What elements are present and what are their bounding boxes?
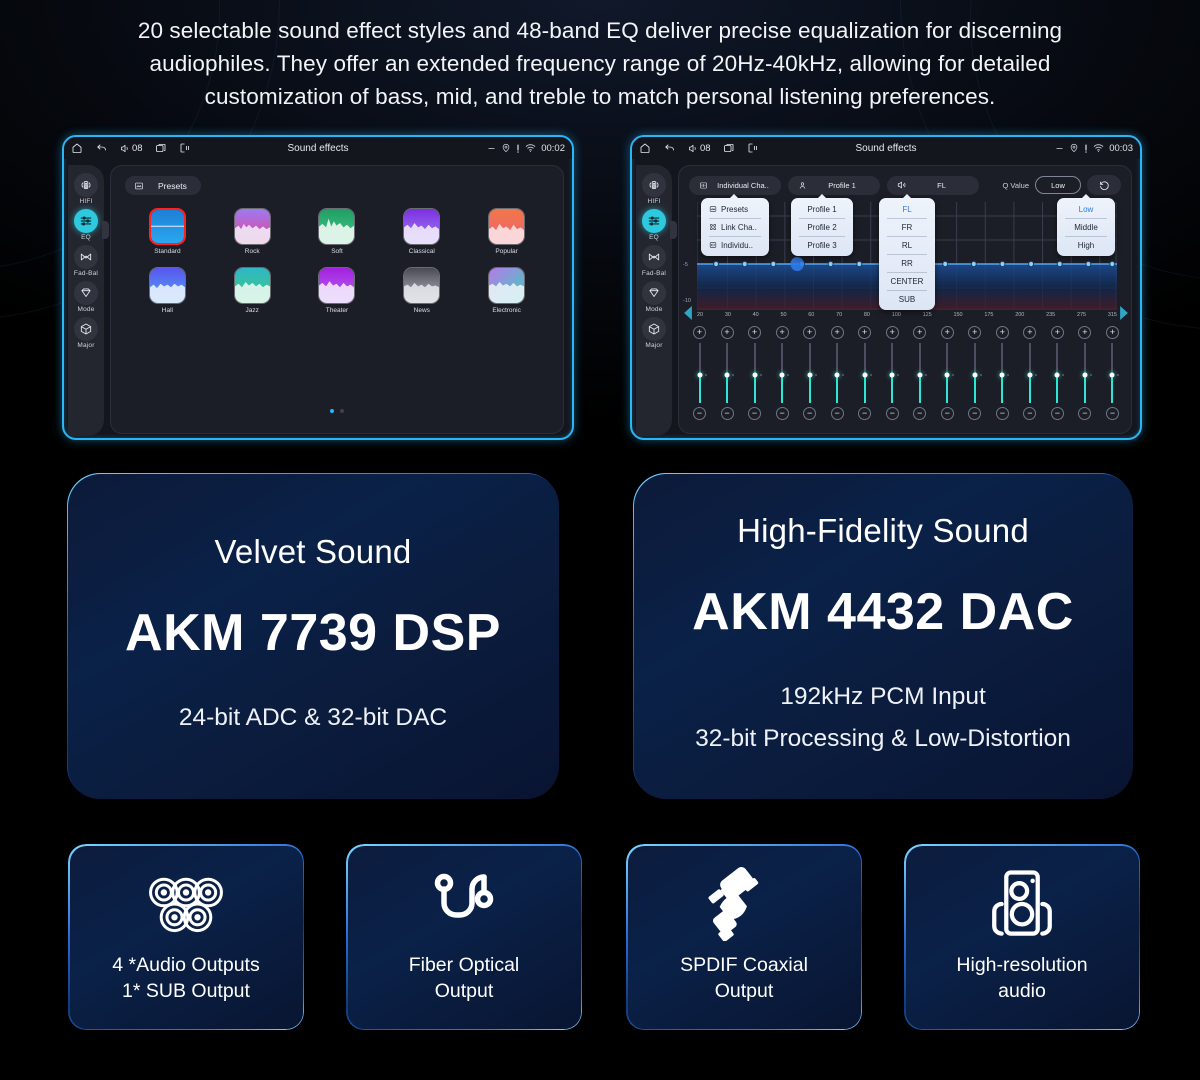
- preset-thumbnail: [488, 267, 525, 304]
- band-slider-knob[interactable]: [917, 373, 922, 378]
- band-decrease-button[interactable]: −: [693, 407, 706, 420]
- preset-grid: Standard Rock Soft: [125, 208, 549, 314]
- device-screen-eq: 08 Sound effects 00:03: [630, 135, 1142, 440]
- band-slider-track[interactable]: [946, 343, 948, 403]
- dropdown-item[interactable]: High: [1057, 236, 1115, 254]
- preset-thumbnail: [234, 208, 271, 245]
- volume-indicator[interactable]: 08: [688, 143, 711, 154]
- band-tick: [1117, 374, 1119, 376]
- preset-item[interactable]: Rock: [210, 208, 295, 255]
- sidebar-label: Mode: [645, 306, 662, 313]
- band-slider-track[interactable]: [974, 343, 976, 403]
- band-increase-button[interactable]: +: [721, 326, 734, 339]
- band-slider-track[interactable]: [919, 343, 921, 403]
- band-tick: [1062, 374, 1064, 376]
- band-slider-track[interactable]: [699, 343, 701, 403]
- dropdown-item-label: Presets: [721, 205, 748, 214]
- band-slider-track[interactable]: [726, 343, 728, 403]
- speaker-waves-icon: [642, 173, 666, 197]
- band-slider-fill: [726, 375, 728, 403]
- band-slider-knob[interactable]: [862, 373, 867, 378]
- link-icon: [709, 223, 717, 231]
- dropdown-item[interactable]: Individu..: [701, 236, 769, 254]
- back-icon[interactable]: [663, 142, 676, 154]
- home-icon[interactable]: [71, 142, 83, 154]
- speaker-icon: [897, 180, 907, 190]
- sidebar-label: Major: [645, 342, 662, 349]
- reset-history-icon[interactable]: [1087, 175, 1121, 195]
- eq-band: +−: [1106, 326, 1119, 420]
- wifi-icon: [525, 143, 536, 153]
- preset-item[interactable]: Soft: [295, 208, 380, 255]
- band-increase-button[interactable]: +: [858, 326, 871, 339]
- dropdown-item[interactable]: RL: [879, 236, 935, 254]
- presets-panel: Presets Standard Rock: [110, 165, 564, 434]
- band-slider-knob[interactable]: [1082, 373, 1087, 378]
- band-increase-button[interactable]: +: [1106, 326, 1119, 339]
- band-increase-button[interactable]: +: [776, 326, 789, 339]
- band-decrease-button[interactable]: −: [941, 407, 954, 420]
- eq-toolbar: Individual Cha.. Profile 1 FL Q Value Lo…: [689, 175, 1121, 195]
- band-tick: [815, 374, 817, 376]
- preset-item[interactable]: Classical: [379, 208, 464, 255]
- band-slider-fill: [1029, 375, 1031, 403]
- y-tick-label: -10: [683, 298, 691, 304]
- band-slider-track[interactable]: [1084, 343, 1086, 403]
- feature-card-dsp: Velvet Sound AKM 7739 DSP 24-bit ADC & 3…: [66, 472, 560, 800]
- feature-card-title: AKM 4432 DAC: [692, 582, 1074, 642]
- band-slider-track[interactable]: [836, 343, 838, 403]
- band-slider-knob[interactable]: [1055, 373, 1060, 378]
- band-decrease-button[interactable]: −: [886, 407, 899, 420]
- mode-selector-label: Individual Cha..: [715, 181, 771, 190]
- split-screen-icon[interactable]: [747, 142, 759, 154]
- chevron-left-icon[interactable]: [683, 306, 693, 325]
- dropdown-profile[interactable]: Profile 1 Profile 2 Profile 3: [791, 198, 853, 256]
- feature-card-desc-line: 32-bit Processing & Low-Distortion: [695, 718, 1071, 760]
- preset-thumbnail: [488, 208, 525, 245]
- status-bar: 08 Sound effects 00:02: [64, 137, 572, 159]
- volume-indicator[interactable]: 08: [120, 143, 143, 154]
- band-tick: [842, 374, 844, 376]
- band-slider-fill: [891, 375, 893, 403]
- freq-tick: 175: [984, 312, 993, 318]
- frequency-axis: 20 30 40 50 60 70 80 100 125 150 175 200…: [697, 312, 1117, 318]
- preset-thumbnail: [149, 208, 186, 245]
- band-increase-button[interactable]: +: [886, 326, 899, 339]
- band-slider-track[interactable]: [1111, 343, 1113, 403]
- preset-item[interactable]: Theater: [295, 267, 380, 314]
- band-decrease-button[interactable]: −: [913, 407, 926, 420]
- band-slider-track[interactable]: [754, 343, 756, 403]
- clock: 00:02: [541, 143, 565, 154]
- band-tick: [1007, 374, 1009, 376]
- dropdown-item[interactable]: SUB: [879, 290, 935, 308]
- band-tick: [980, 374, 982, 376]
- dropdown-item[interactable]: Profile 3: [791, 236, 853, 254]
- spec-cards: 4 *Audio Outputs 1* SUB Output Fiber Opt…: [68, 844, 1132, 1030]
- feature-card-desc-line: 192kHz PCM Input: [780, 676, 986, 718]
- freq-tick: 275: [1077, 312, 1086, 318]
- freq-tick: 125: [923, 312, 932, 318]
- location-icon: [501, 143, 511, 153]
- band-slider-fill: [754, 375, 756, 403]
- band-decrease-button[interactable]: −: [1106, 407, 1119, 420]
- band-increase-button[interactable]: +: [748, 326, 761, 339]
- band-decrease-button[interactable]: −: [748, 407, 761, 420]
- band-decrease-button[interactable]: −: [996, 407, 1009, 420]
- presets-icon: [134, 181, 144, 191]
- band-slider-fill: [1111, 375, 1113, 403]
- band-increase-button[interactable]: +: [968, 326, 981, 339]
- band-tick: [760, 374, 762, 376]
- band-tick: [787, 374, 789, 376]
- sidebar-label: Major: [77, 342, 94, 349]
- eq-band: +−: [721, 326, 734, 420]
- preset-label: Soft: [331, 248, 343, 255]
- location-icon: [1069, 143, 1079, 153]
- band-slider-knob[interactable]: [807, 373, 812, 378]
- presets-icon: [709, 205, 717, 213]
- equalizer-icon: [642, 209, 666, 233]
- preset-label: Electronic: [492, 307, 521, 314]
- fader-balance-icon: [74, 245, 98, 269]
- dropdown-channel[interactable]: FL FR RL RR CENTER SUB: [879, 198, 935, 310]
- spec-card-label: High-resolution audio: [956, 952, 1087, 1005]
- recents-icon[interactable]: [723, 142, 735, 154]
- page-dot[interactable]: [340, 409, 344, 413]
- preset-thumbnail: [234, 267, 271, 304]
- band-slider-fill: [836, 375, 838, 403]
- page-dot[interactable]: [330, 409, 334, 413]
- freq-tick: 200: [1015, 312, 1024, 318]
- spec-card-label: 4 *Audio Outputs 1* SUB Output: [112, 952, 259, 1005]
- preset-label: Rock: [245, 248, 260, 255]
- band-slider-track[interactable]: [809, 343, 811, 403]
- feature-card-title: AKM 7739 DSP: [125, 603, 501, 663]
- band-increase-button[interactable]: +: [803, 326, 816, 339]
- band-increase-button[interactable]: +: [1078, 326, 1091, 339]
- band-decrease-button[interactable]: −: [831, 407, 844, 420]
- sidebar-item-eq[interactable]: EQ: [642, 209, 666, 241]
- freq-tick: 315: [1108, 312, 1117, 318]
- band-slider-fill: [781, 375, 783, 403]
- person-icon: [798, 181, 807, 190]
- freq-tick: 80: [864, 312, 870, 318]
- coaxial-plug-icon: [703, 866, 785, 942]
- band-slider-track[interactable]: [1056, 343, 1058, 403]
- freq-tick: 40: [753, 312, 759, 318]
- headline-text: 20 selectable sound effect styles and 48…: [0, 14, 1200, 113]
- preset-label: News: [414, 307, 430, 314]
- signal-icon: [516, 144, 520, 153]
- eq-band: +−: [748, 326, 761, 420]
- home-icon[interactable]: [639, 142, 651, 154]
- sidebar-label: Fad-Bal: [642, 270, 666, 277]
- bluetooth-icon: [1055, 144, 1064, 153]
- fiber-optical-icon: [432, 866, 496, 942]
- mode-selector[interactable]: Individual Cha..: [689, 176, 781, 195]
- band-slider-fill: [699, 375, 701, 403]
- freq-tick: 60: [808, 312, 814, 318]
- fader-balance-icon: [642, 245, 666, 269]
- eq-band: +−: [968, 326, 981, 420]
- band-slider-knob[interactable]: [1000, 373, 1005, 378]
- sidebar-item-eq[interactable]: EQ: [74, 209, 98, 241]
- band-increase-button[interactable]: +: [1051, 326, 1064, 339]
- band-decrease-button[interactable]: −: [1023, 407, 1036, 420]
- speaker-waves-icon: [74, 173, 98, 197]
- spec-card-spdif-coaxial: SPDIF Coaxial Output: [626, 844, 862, 1030]
- preset-label: Classical: [409, 248, 435, 255]
- device-screen-presets: 08 Sound effects 00:02: [62, 135, 574, 440]
- feature-card-subtitle: High-Fidelity Sound: [737, 512, 1029, 550]
- feature-card-subtitle: Velvet Sound: [215, 533, 412, 571]
- spec-card-high-res-audio: High-resolution audio: [904, 844, 1140, 1030]
- freq-tick: 20: [697, 312, 703, 318]
- band-tick: [870, 374, 872, 376]
- sidebar-item-mode[interactable]: Mode: [74, 281, 98, 313]
- dropdown-item-label: Link Cha..: [721, 223, 757, 232]
- signal-icon: [1084, 144, 1088, 153]
- eq-band: +−: [1023, 326, 1036, 420]
- preset-item[interactable]: Popular: [464, 208, 549, 255]
- band-slider-track[interactable]: [1029, 343, 1031, 403]
- volume-value: 08: [132, 143, 143, 154]
- profile-selector[interactable]: Profile 1: [788, 176, 880, 195]
- preset-item[interactable]: News: [379, 267, 464, 314]
- sidebar-item-fad-bal[interactable]: Fad-Bal: [74, 245, 98, 277]
- band-slider-fill: [864, 375, 866, 403]
- eq-band: +−: [996, 326, 1009, 420]
- freq-tick: 30: [725, 312, 731, 318]
- band-increase-button[interactable]: +: [913, 326, 926, 339]
- rail-active-nub: [102, 221, 109, 239]
- channels-icon: [699, 181, 708, 190]
- freq-tick: 235: [1046, 312, 1055, 318]
- dropdown-item[interactable]: CENTER: [879, 272, 935, 290]
- band-tick: [732, 374, 734, 376]
- eq-band: +−: [1051, 326, 1064, 420]
- eq-panel: Individual Cha.. Profile 1 FL Q Value Lo…: [678, 165, 1132, 434]
- band-slider-knob[interactable]: [697, 373, 702, 378]
- band-slider-fill: [1056, 375, 1058, 403]
- band-tick: [1035, 374, 1037, 376]
- band-tick: [1090, 374, 1092, 376]
- split-screen-icon[interactable]: [179, 142, 191, 154]
- preset-label: Jazz: [246, 307, 259, 314]
- wifi-icon: [1093, 143, 1104, 153]
- sidebar-rail: HIFI EQ Fad-Bal: [636, 165, 672, 436]
- dropdown-item[interactable]: Profile 2: [791, 218, 853, 236]
- dropdown-item[interactable]: FL: [879, 200, 935, 218]
- feature-card-desc-line: 24-bit ADC & 32-bit DAC: [179, 697, 447, 739]
- spec-card-label: Fiber Optical Output: [409, 952, 520, 1005]
- sidebar-label: Fad-Bal: [74, 270, 98, 277]
- cube-icon: [642, 317, 666, 341]
- eq-band: +−: [831, 326, 844, 420]
- dropdown-mode[interactable]: Presets Link Cha.. Individu..: [701, 198, 769, 256]
- freq-tick: 70: [836, 312, 842, 318]
- sidebar-item-fad-bal[interactable]: Fad-Bal: [642, 245, 666, 277]
- band-slider-knob[interactable]: [725, 373, 730, 378]
- chevron-right-icon[interactable]: [1119, 306, 1129, 325]
- preset-label: Standard: [154, 248, 180, 255]
- preset-item[interactable]: Hall: [125, 267, 210, 314]
- volume-value: 08: [700, 143, 711, 154]
- presets-button-label: Presets: [158, 181, 187, 191]
- band-tick: [952, 374, 954, 376]
- band-slider-knob[interactable]: [1027, 373, 1032, 378]
- dropdown-item-label: Individu..: [721, 241, 753, 250]
- feature-card-dac: High-Fidelity Sound AKM 4432 DAC 192kHz …: [632, 472, 1134, 800]
- channel-selector[interactable]: FL: [887, 176, 979, 195]
- freq-tick: 100: [892, 312, 901, 318]
- eq-band: +−: [803, 326, 816, 420]
- band-increase-button[interactable]: +: [1023, 326, 1036, 339]
- dropdown-q-value[interactable]: Low Middle High: [1057, 198, 1115, 256]
- band-increase-button[interactable]: +: [941, 326, 954, 339]
- dropdown-item[interactable]: FR: [879, 218, 935, 236]
- page-dots: [111, 409, 563, 413]
- dropdown-item[interactable]: Low: [1057, 200, 1115, 218]
- band-slider-fill: [946, 375, 948, 403]
- diamond-icon: [642, 281, 666, 305]
- sidebar-label: EQ: [81, 234, 91, 241]
- sidebar-item-mode[interactable]: Mode: [642, 281, 666, 313]
- eq-band: +−: [1078, 326, 1091, 420]
- eq-band: +−: [776, 326, 789, 420]
- band-slider-knob[interactable]: [945, 373, 950, 378]
- freq-tick: 50: [780, 312, 786, 318]
- bluetooth-icon: [487, 144, 496, 153]
- band-slider-knob[interactable]: [972, 373, 977, 378]
- band-increase-button[interactable]: +: [693, 326, 706, 339]
- dropdown-item[interactable]: Presets: [701, 200, 769, 218]
- channel-selector-label: FL: [914, 181, 969, 190]
- band-slider-knob[interactable]: [752, 373, 757, 378]
- diamond-icon: [74, 281, 98, 305]
- band-decrease-button[interactable]: −: [1051, 407, 1064, 420]
- recents-icon[interactable]: [155, 142, 167, 154]
- sidebar-label: HIFI: [79, 198, 92, 205]
- feature-cards: Velvet Sound AKM 7739 DSP 24-bit ADC & 3…: [66, 472, 1134, 800]
- channels-icon: [709, 241, 717, 249]
- sidebar-item-hifi[interactable]: HIFI: [642, 173, 666, 205]
- preset-thumbnail: [149, 267, 186, 304]
- cube-icon: [74, 317, 98, 341]
- band-slider-fill: [1001, 375, 1003, 403]
- band-slider-fill: [809, 375, 811, 403]
- preset-thumbnail: [403, 208, 440, 245]
- clock: 00:03: [1109, 143, 1133, 154]
- eq-band-sliders: +−+−+−+−+−+−+−+−+−+−+−+−+−+−+−+−: [693, 326, 1119, 420]
- preset-item[interactable]: Electronic: [464, 267, 549, 314]
- sidebar-label: Mode: [77, 306, 94, 313]
- y-tick-label: -5: [683, 262, 688, 268]
- dropdown-item[interactable]: RR: [879, 254, 935, 272]
- spec-card-fiber-optical: Fiber Optical Output: [346, 844, 582, 1030]
- band-decrease-button[interactable]: −: [1078, 407, 1091, 420]
- equalizer-icon: [74, 209, 98, 233]
- band-slider-track[interactable]: [781, 343, 783, 403]
- eq-band: +−: [858, 326, 871, 420]
- preset-label: Hall: [162, 307, 173, 314]
- sidebar-item-major[interactable]: Major: [74, 317, 98, 349]
- band-decrease-button[interactable]: −: [803, 407, 816, 420]
- q-value-label: Q Value: [1002, 181, 1029, 190]
- band-increase-button[interactable]: +: [996, 326, 1009, 339]
- dropdown-item[interactable]: Link Cha..: [701, 218, 769, 236]
- band-slider-knob[interactable]: [1110, 373, 1115, 378]
- dropdown-item[interactable]: Profile 1: [791, 200, 853, 218]
- band-increase-button[interactable]: +: [831, 326, 844, 339]
- band-tick: [897, 374, 899, 376]
- band-tick: [705, 374, 707, 376]
- band-slider-knob[interactable]: [835, 373, 840, 378]
- sidebar-rail: HIFI EQ Fad-Bal: [68, 165, 104, 436]
- band-slider-track[interactable]: [1001, 343, 1003, 403]
- band-tick: [925, 374, 927, 376]
- band-decrease-button[interactable]: −: [721, 407, 734, 420]
- band-slider-fill: [1084, 375, 1086, 403]
- dropdown-item[interactable]: Middle: [1057, 218, 1115, 236]
- back-icon[interactable]: [95, 142, 108, 154]
- band-decrease-button[interactable]: −: [968, 407, 981, 420]
- band-slider-knob[interactable]: [890, 373, 895, 378]
- eq-band: +−: [941, 326, 954, 420]
- sidebar-label: HIFI: [647, 198, 660, 205]
- preset-thumbnail: [403, 267, 440, 304]
- band-slider-track[interactable]: [891, 343, 893, 403]
- preset-thumbnail: [318, 208, 355, 245]
- preset-thumbnail: [318, 267, 355, 304]
- band-decrease-button[interactable]: −: [858, 407, 871, 420]
- eq-band: +−: [913, 326, 926, 420]
- rca-outputs-icon: [141, 866, 231, 942]
- status-bar: 08 Sound effects 00:03: [632, 137, 1140, 159]
- device-screenshots: 08 Sound effects 00:02: [62, 135, 1142, 440]
- preset-label: Theater: [326, 307, 348, 314]
- band-decrease-button[interactable]: −: [776, 407, 789, 420]
- rail-active-nub: [670, 221, 677, 239]
- profile-selector-label: Profile 1: [814, 181, 870, 190]
- sidebar-item-hifi[interactable]: HIFI: [74, 173, 98, 205]
- q-value-selector[interactable]: Low: [1035, 176, 1081, 194]
- spec-card-audio-outputs: 4 *Audio Outputs 1* SUB Output: [68, 844, 304, 1030]
- band-slider-fill: [919, 375, 921, 403]
- band-slider-fill: [974, 375, 976, 403]
- sidebar-label: EQ: [649, 234, 659, 241]
- sidebar-item-major[interactable]: Major: [642, 317, 666, 349]
- preset-item[interactable]: Jazz: [210, 267, 295, 314]
- eq-band: +−: [693, 326, 706, 420]
- spec-card-label: SPDIF Coaxial Output: [680, 952, 808, 1005]
- speaker-box-icon: [986, 866, 1058, 942]
- preset-label: Popular: [495, 248, 517, 255]
- presets-button[interactable]: Presets: [125, 176, 201, 196]
- eq-band: +−: [886, 326, 899, 420]
- band-slider-track[interactable]: [864, 343, 866, 403]
- band-slider-knob[interactable]: [780, 373, 785, 378]
- freq-tick: 150: [953, 312, 962, 318]
- preset-item[interactable]: Standard: [125, 208, 210, 255]
